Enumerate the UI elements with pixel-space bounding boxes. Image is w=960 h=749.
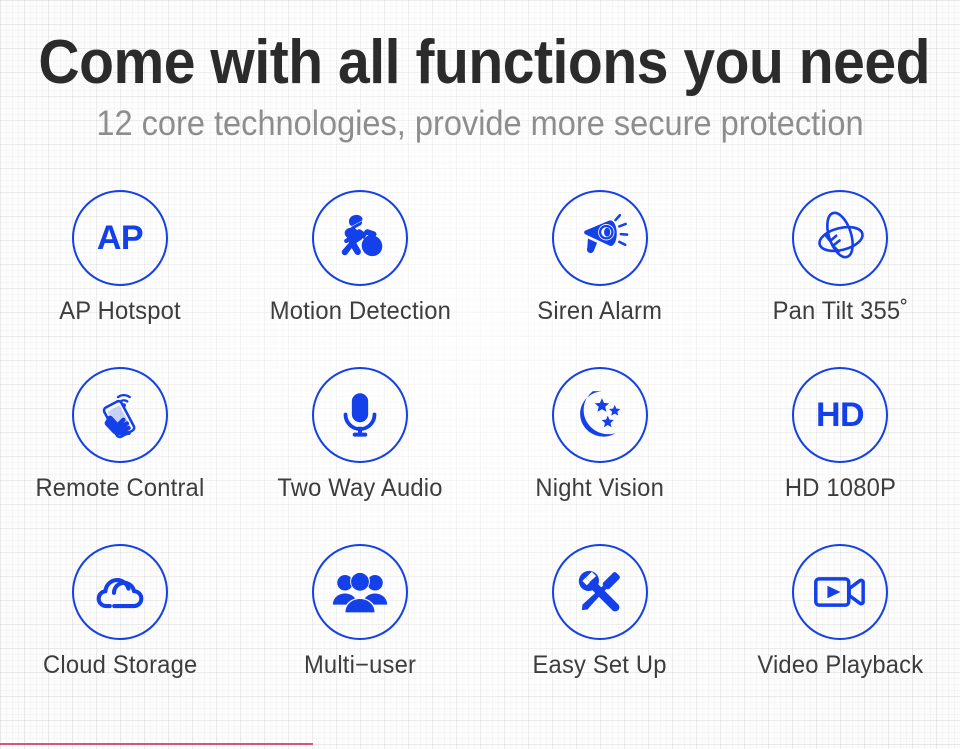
feature-label: Motion Detection bbox=[269, 297, 450, 326]
page-title: Come with all functions you need bbox=[38, 30, 921, 97]
cloud-icon bbox=[72, 544, 168, 640]
ap-hotspot-icon: AP bbox=[72, 190, 168, 286]
feature-label: Siren Alarm bbox=[538, 297, 663, 326]
moon-stars-icon bbox=[552, 367, 648, 463]
feature-item-video-playback[interactable]: Video Playback bbox=[720, 544, 960, 721]
feature-label: Multi−user bbox=[304, 651, 416, 680]
feature-label: AP Hotspot bbox=[59, 297, 181, 326]
feature-label: Remote Contral bbox=[36, 474, 205, 503]
users-group-icon bbox=[312, 544, 408, 640]
feature-label: Pan Tilt 355˚ bbox=[772, 297, 908, 326]
page-content: Come with all functions you need 12 core… bbox=[0, 0, 960, 749]
hd-icon-text: HD bbox=[816, 398, 864, 432]
feature-label: Cloud Storage bbox=[43, 651, 197, 680]
feature-label: Easy Set Up bbox=[533, 651, 667, 680]
bottom-accent-rule bbox=[0, 743, 313, 745]
feature-item-two-way-audio[interactable]: Two Way Audio bbox=[240, 367, 480, 544]
rotation-360-icon bbox=[792, 190, 888, 286]
feature-grid: AP AP Hotspot bbox=[0, 190, 960, 721]
page-subtitle: 12 core technologies, provide more secur… bbox=[34, 105, 927, 144]
feature-label: HD 1080P bbox=[784, 474, 895, 503]
heading-block: Come with all functions you need 12 core… bbox=[0, 0, 960, 143]
feature-item-cloud-storage[interactable]: Cloud Storage bbox=[0, 544, 240, 721]
ap-hotspot-icon-text: AP bbox=[97, 221, 143, 255]
feature-item-night-vision[interactable]: Night Vision bbox=[480, 367, 720, 544]
feature-item-easy-set-up[interactable]: Easy Set Up bbox=[480, 544, 720, 721]
microphone-icon bbox=[312, 367, 408, 463]
feature-item-motion-detection[interactable]: Motion Detection bbox=[240, 190, 480, 367]
feature-label: Video Playback bbox=[757, 651, 923, 680]
wrench-screwdriver-icon bbox=[552, 544, 648, 640]
feature-item-ap-hotspot[interactable]: AP AP Hotspot bbox=[0, 190, 240, 367]
megaphone-siren-icon bbox=[552, 190, 648, 286]
feature-item-multi-user[interactable]: Multi−user bbox=[240, 544, 480, 721]
hd-icon: HD bbox=[792, 367, 888, 463]
video-camera-play-icon bbox=[792, 544, 888, 640]
thief-motion-icon bbox=[312, 190, 408, 286]
feature-item-siren-alarm[interactable]: Siren Alarm bbox=[480, 190, 720, 367]
feature-item-hd-1080p[interactable]: HD HD 1080P bbox=[720, 367, 960, 544]
feature-label: Night Vision bbox=[536, 474, 665, 503]
feature-label: Two Way Audio bbox=[277, 474, 442, 503]
phone-wifi-hand-icon bbox=[72, 367, 168, 463]
feature-item-remote-control[interactable]: Remote Contral bbox=[0, 367, 240, 544]
feature-item-pan-tilt[interactable]: Pan Tilt 355˚ bbox=[720, 190, 960, 367]
